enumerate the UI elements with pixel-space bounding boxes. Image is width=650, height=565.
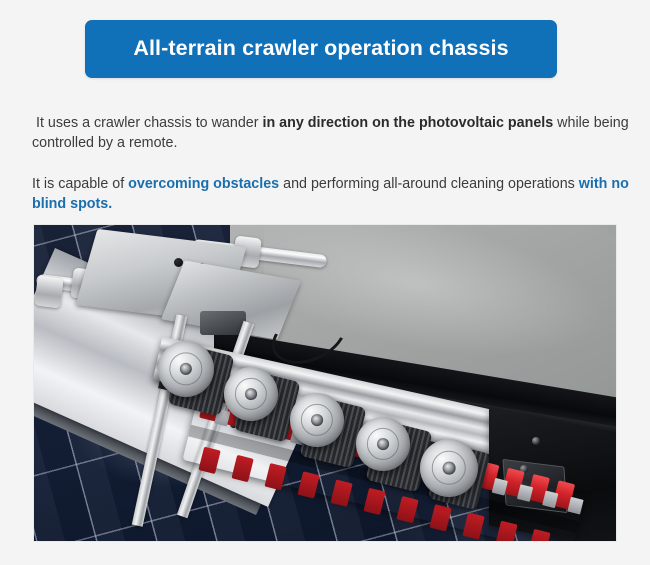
wheel-ring	[432, 451, 466, 485]
title-banner: All-terrain crawler operation chassis	[85, 20, 557, 78]
page-title: All-terrain crawler operation chassis	[133, 38, 508, 60]
track-wheel-3	[290, 393, 344, 447]
product-feature-card: All-terrain crawler operation chassis It…	[0, 0, 650, 565]
wheel-ring	[169, 352, 202, 385]
roller-cap-left-2	[34, 276, 63, 309]
product-photo-scene	[34, 225, 616, 541]
paragraph-2-accent-1: overcoming obstacles	[128, 176, 279, 192]
controller-screw-1	[532, 437, 540, 445]
wheel-ring	[235, 378, 267, 410]
paragraph-1-bold: in any direction on the photovoltaic pan…	[262, 115, 553, 131]
paragraph-1-segment-1: It uses a crawler chassis to wander	[36, 115, 262, 131]
track-wheel-2	[224, 367, 278, 421]
wheel-ring	[367, 428, 399, 460]
wheel-ring	[301, 404, 333, 436]
paragraph-2-segment-1: It is capable of	[32, 176, 128, 192]
track-wheel-4	[356, 417, 410, 471]
paragraph-2-segment-3: and performing all-around cleaning opera…	[279, 176, 579, 192]
product-photo	[33, 224, 617, 542]
description-block: It uses a crawler chassis to wander in a…	[32, 113, 632, 214]
track-wheel-5	[420, 439, 478, 497]
paragraph-1: It uses a crawler chassis to wander in a…	[32, 113, 632, 153]
paragraph-2: It is capable of overcoming obstacles an…	[32, 174, 636, 214]
track-wheel-1	[158, 341, 214, 397]
